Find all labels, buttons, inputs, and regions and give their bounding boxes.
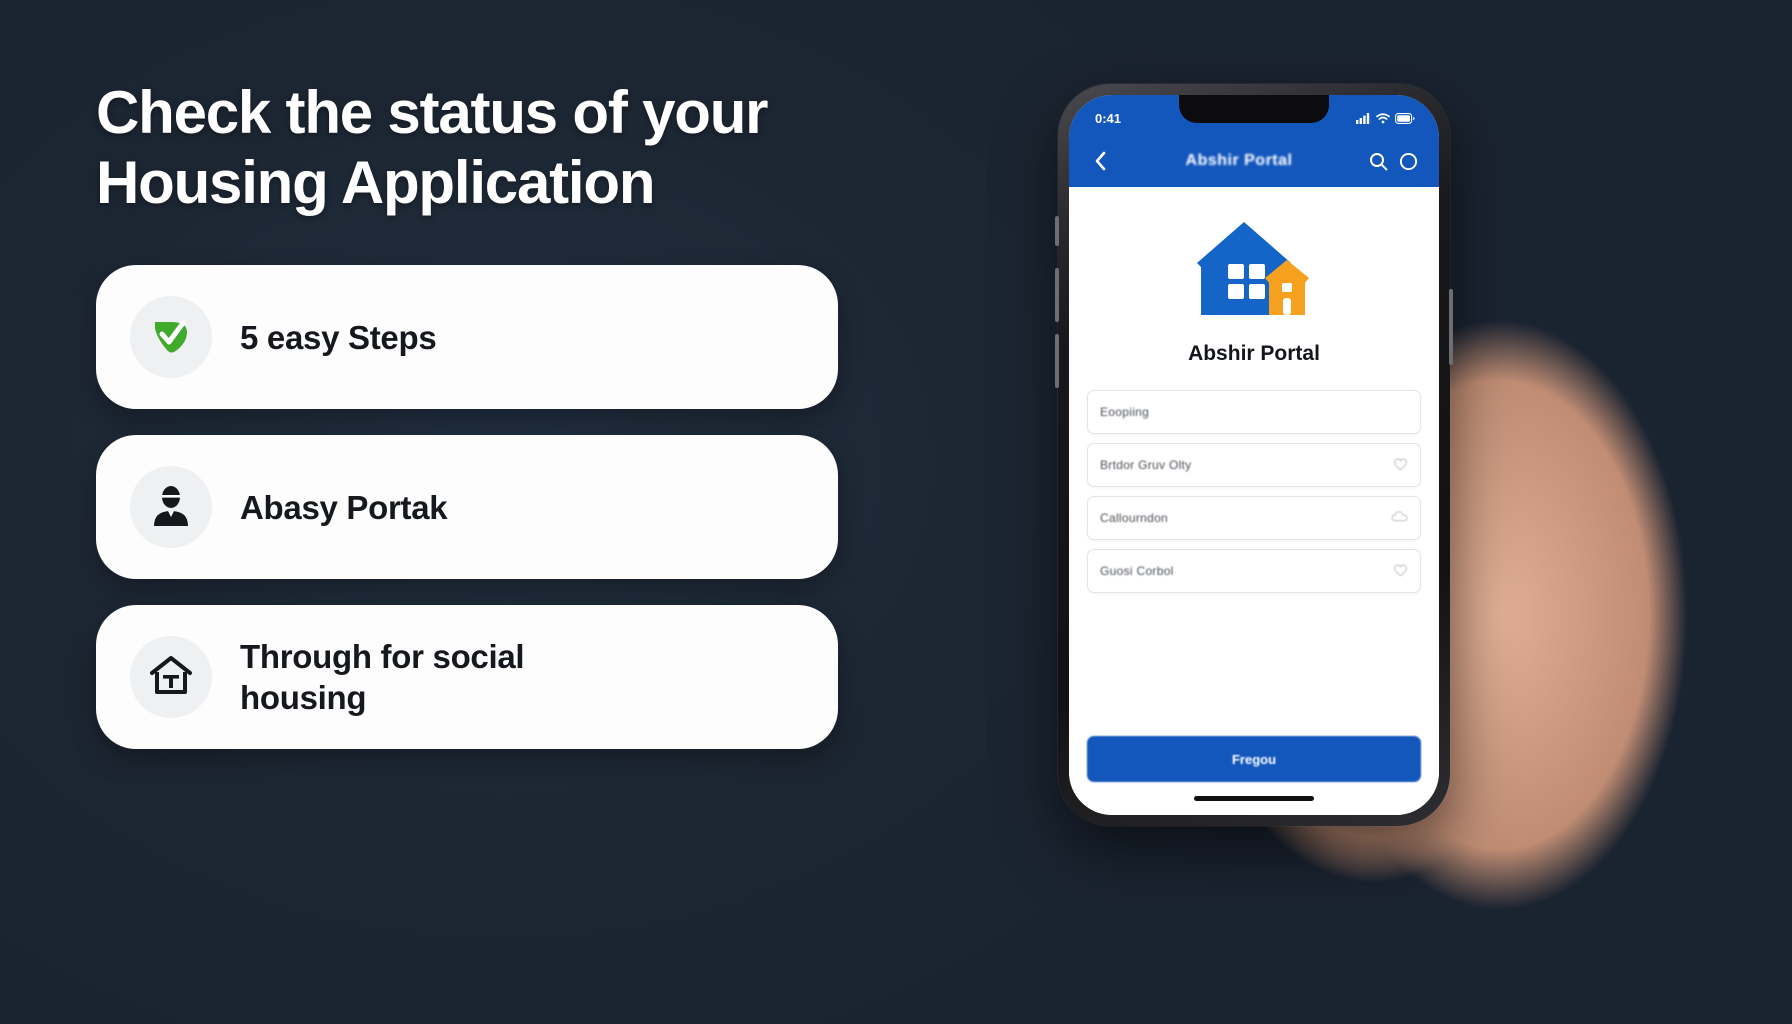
- status-indicators: [1356, 113, 1415, 124]
- submit-button[interactable]: Fregou: [1087, 736, 1421, 782]
- list-item-label: Callourndon: [1100, 511, 1168, 525]
- feature-card-label: 5 easy Steps: [240, 317, 436, 358]
- phone-screen: 0:41: [1069, 95, 1439, 815]
- feature-card-social-housing[interactable]: Through for social housing: [96, 605, 838, 749]
- brand-title: Abshir Portal: [1087, 342, 1421, 366]
- heart-icon[interactable]: [1393, 457, 1408, 474]
- list-item[interactable]: Callourndon: [1087, 496, 1421, 540]
- green-check-icon: [146, 310, 196, 365]
- back-chevron-icon[interactable]: [1085, 146, 1115, 176]
- phone-photo: 0:41: [950, 0, 1792, 1024]
- volume-up-button[interactable]: [1055, 268, 1059, 322]
- silent-switch[interactable]: [1055, 216, 1059, 246]
- smartphone-device: 0:41: [1058, 84, 1450, 826]
- heart-icon[interactable]: [1393, 563, 1408, 580]
- feature-card-label-line1: Through for social: [240, 636, 524, 677]
- app-logo: [1087, 219, 1421, 328]
- list-item[interactable]: Guosi Corbol: [1087, 549, 1421, 593]
- house-outline-icon: [147, 651, 195, 704]
- feature-card-label-line1: 5 easy Steps: [240, 317, 436, 358]
- wifi-icon: [1376, 113, 1390, 124]
- status-bar: 0:41: [1069, 95, 1439, 135]
- list-item-label: Eoopiing: [1100, 405, 1149, 419]
- feature-card-label: Abasy Portak: [240, 487, 447, 528]
- app-content: Abshir Portal Eoopiing Brtdor Gruv Olty: [1069, 187, 1439, 815]
- volume-down-button[interactable]: [1055, 334, 1059, 388]
- profile-circle-icon[interactable]: [1393, 146, 1423, 176]
- list-item-label: Brtdor Gruv Olty: [1100, 458, 1191, 472]
- battery-icon: [1395, 113, 1415, 124]
- feature-card-portal[interactable]: Abasy Portak: [96, 435, 838, 579]
- menu-list: Eoopiing Brtdor Gruv Olty Callourndon: [1087, 390, 1421, 593]
- list-item-label: Guosi Corbol: [1100, 564, 1174, 578]
- feature-card-list: 5 easy Steps Abasy Portak: [96, 265, 886, 749]
- card-icon-badge: [130, 296, 212, 378]
- left-content: Check the status of your Housing Applica…: [96, 78, 886, 749]
- cta-area: Fregou: [1087, 736, 1421, 815]
- blue-house-logo-icon: [1195, 219, 1313, 328]
- feature-card-label-line1: Abasy Portak: [240, 487, 447, 528]
- home-indicator[interactable]: [1194, 796, 1314, 801]
- power-button[interactable]: [1449, 289, 1453, 365]
- notch: [1179, 95, 1329, 123]
- feature-card-label-line2: housing: [240, 677, 524, 718]
- headline-line-1: Check the status of your: [96, 79, 767, 146]
- list-item[interactable]: Eoopiing: [1087, 390, 1421, 434]
- feature-card-label: Through for social housing: [240, 636, 524, 719]
- list-item[interactable]: Brtdor Gruv Olty: [1087, 443, 1421, 487]
- card-icon-badge: [130, 466, 212, 548]
- page-title: Check the status of your Housing Applica…: [96, 78, 886, 217]
- signal-bars-icon: [1356, 113, 1371, 124]
- cloud-icon[interactable]: [1391, 510, 1408, 526]
- feature-card-steps[interactable]: 5 easy Steps: [96, 265, 838, 409]
- headline-line-2: Housing Application: [96, 148, 886, 218]
- search-icon[interactable]: [1363, 146, 1393, 176]
- app-bar-title: Abshir Portal: [1115, 152, 1363, 170]
- person-avatar-icon: [148, 482, 194, 533]
- status-time: 0:41: [1095, 111, 1121, 126]
- app-bar: Abshir Portal: [1069, 135, 1439, 187]
- card-icon-badge: [130, 636, 212, 718]
